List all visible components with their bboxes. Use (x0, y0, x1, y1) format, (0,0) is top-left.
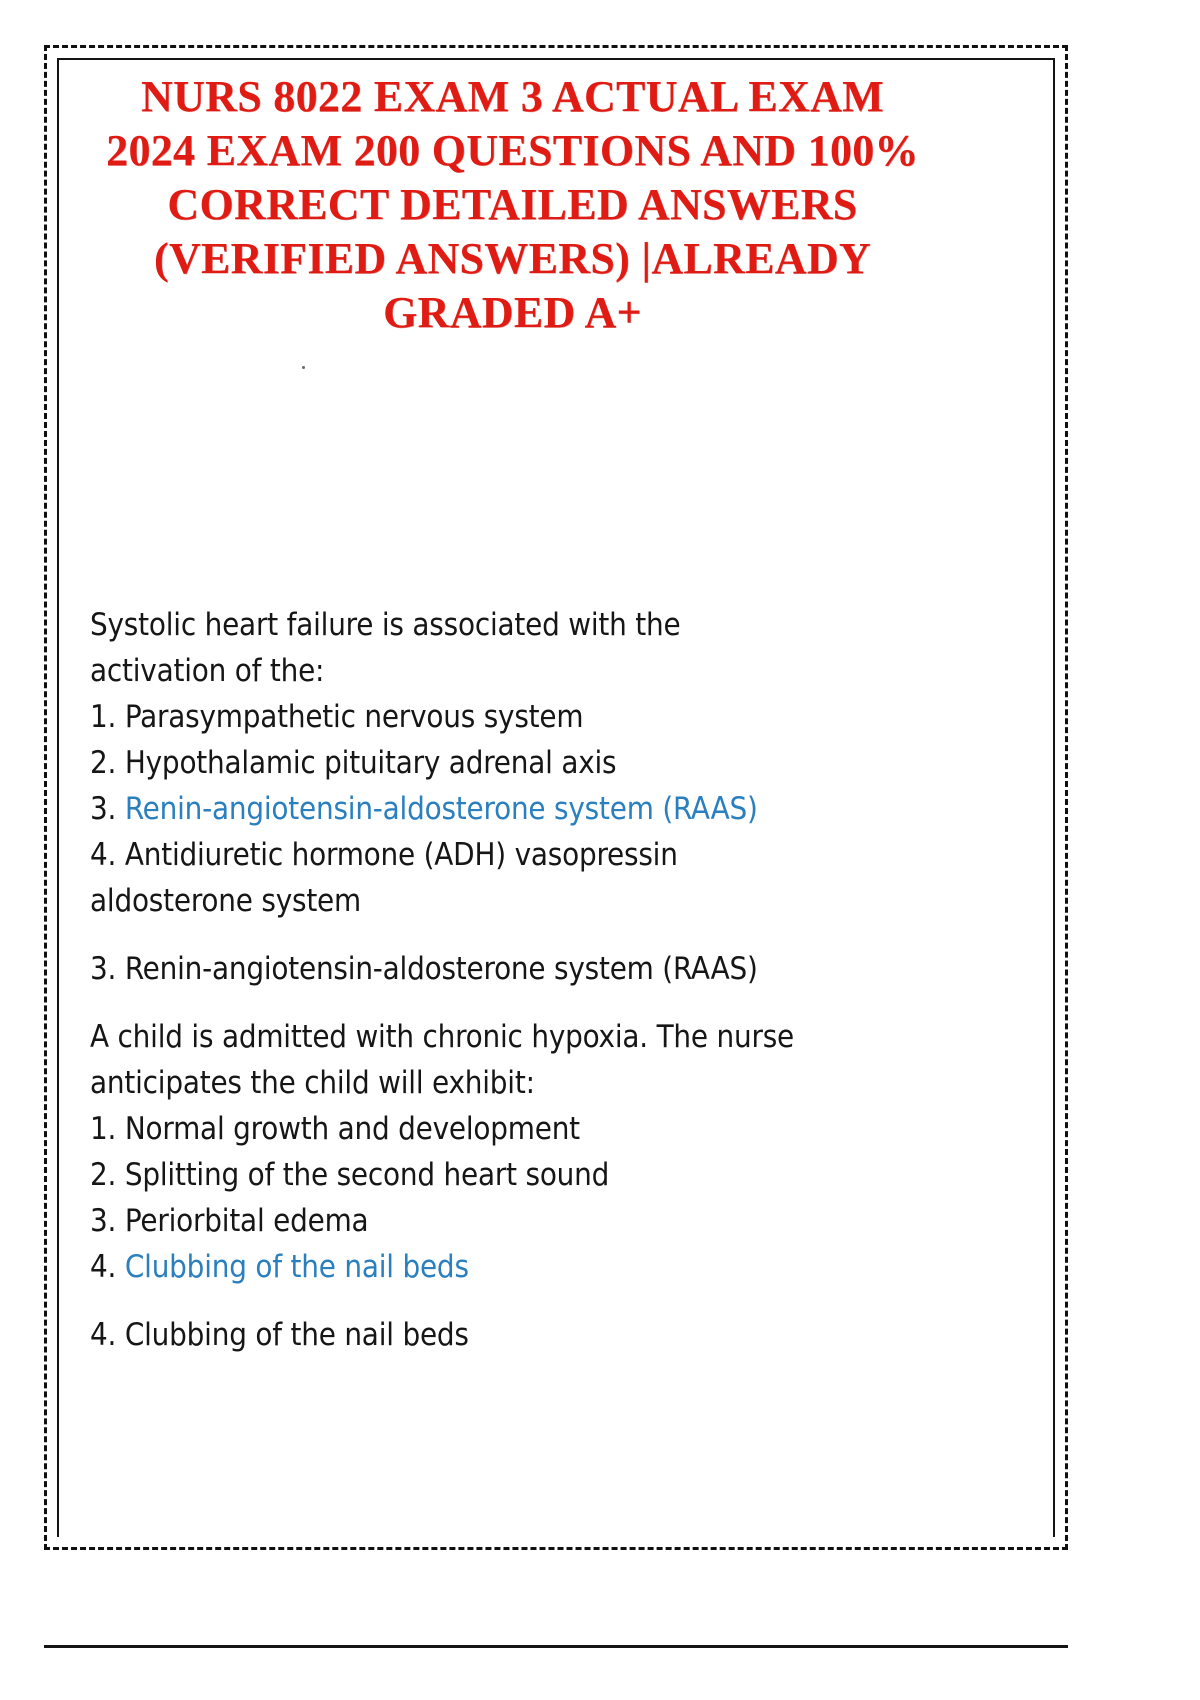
option-number: 4. (90, 837, 116, 873)
question-stem-line: A child is admitted with chronic hypoxia… (90, 1019, 794, 1055)
title-line-5: GRADED A+ (383, 288, 642, 337)
option-text: Clubbing of the nail beds (116, 1249, 469, 1285)
question-stem-line: Systolic heart failure is associated wit… (90, 607, 680, 643)
question-stem: Systolic heart failure is associated wit… (90, 602, 935, 694)
option-text: Normal growth and development (116, 1111, 580, 1147)
question-stem-line: anticipates the child will exhibit: (90, 1065, 535, 1101)
option-number: 4. (90, 1249, 116, 1285)
option-row[interactable]: 3. Periorbital edema (90, 1198, 935, 1244)
option-number: 2. (90, 745, 116, 781)
option-row[interactable]: 1. Normal growth and development (90, 1106, 935, 1152)
option-text: Parasympathetic nervous system (116, 699, 583, 735)
option-row[interactable]: 2. Hypothalamic pituitary adrenal axis (90, 740, 935, 786)
option-row[interactable]: 2. Splitting of the second heart sound (90, 1152, 935, 1198)
title-line-4: (VERIFIED ANSWERS) |ALREADY (154, 234, 871, 283)
page-title: NURS 8022 EXAM 3 ACTUAL EXAM 2024 EXAM 2… (90, 70, 935, 340)
option-number: 3. (90, 1203, 116, 1239)
option-row[interactable]: 4. Antidiuretic hormone (ADH) vasopressi… (90, 832, 935, 924)
option-text: Renin-angiotensin-aldosterone system (RA… (116, 791, 758, 827)
option-text: Periorbital edema (116, 1203, 368, 1239)
question-block: Systolic heart failure is associated wit… (90, 602, 935, 992)
question-block: A child is admitted with chronic hypoxia… (90, 1014, 935, 1358)
option-text: Splitting of the second heart sound (116, 1157, 609, 1193)
answer-line: 3. Renin-angiotensin-aldosterone system … (90, 946, 935, 992)
question-stem-line: activation of the: (90, 653, 324, 689)
option-text: Antidiuretic hormone (ADH) vasopressin (116, 837, 678, 873)
document-content: NURS 8022 EXAM 3 ACTUAL EXAM 2024 EXAM 2… (90, 70, 935, 1358)
option-number: 1. (90, 699, 116, 735)
answer-line: 4. Clubbing of the nail beds (90, 1312, 935, 1358)
question-stem: A child is admitted with chronic hypoxia… (90, 1014, 935, 1106)
scan-artifact-dot (302, 366, 305, 369)
option-number: 1. (90, 1111, 116, 1147)
option-row[interactable]: 1. Parasympathetic nervous system (90, 694, 935, 740)
title-line-3: CORRECT DETAILED ANSWERS (167, 180, 857, 229)
option-number: 2. (90, 1157, 116, 1193)
option-number: 3. (90, 791, 116, 827)
option-text-wrap: aldosterone system (90, 883, 361, 919)
block-spacer (90, 992, 935, 1014)
option-row-highlighted[interactable]: 3. Renin-angiotensin-aldosterone system … (90, 786, 935, 832)
title-line-1: NURS 8022 EXAM 3 ACTUAL EXAM (141, 72, 884, 121)
title-line-2: 2024 EXAM 200 QUESTIONS AND 100% (106, 126, 919, 175)
option-row-highlighted[interactable]: 4. Clubbing of the nail beds (90, 1244, 935, 1290)
option-text: Hypothalamic pituitary adrenal axis (116, 745, 616, 781)
exam-body: Systolic heart failure is associated wit… (90, 602, 935, 1358)
next-page-top-edge (44, 1645, 1068, 1648)
